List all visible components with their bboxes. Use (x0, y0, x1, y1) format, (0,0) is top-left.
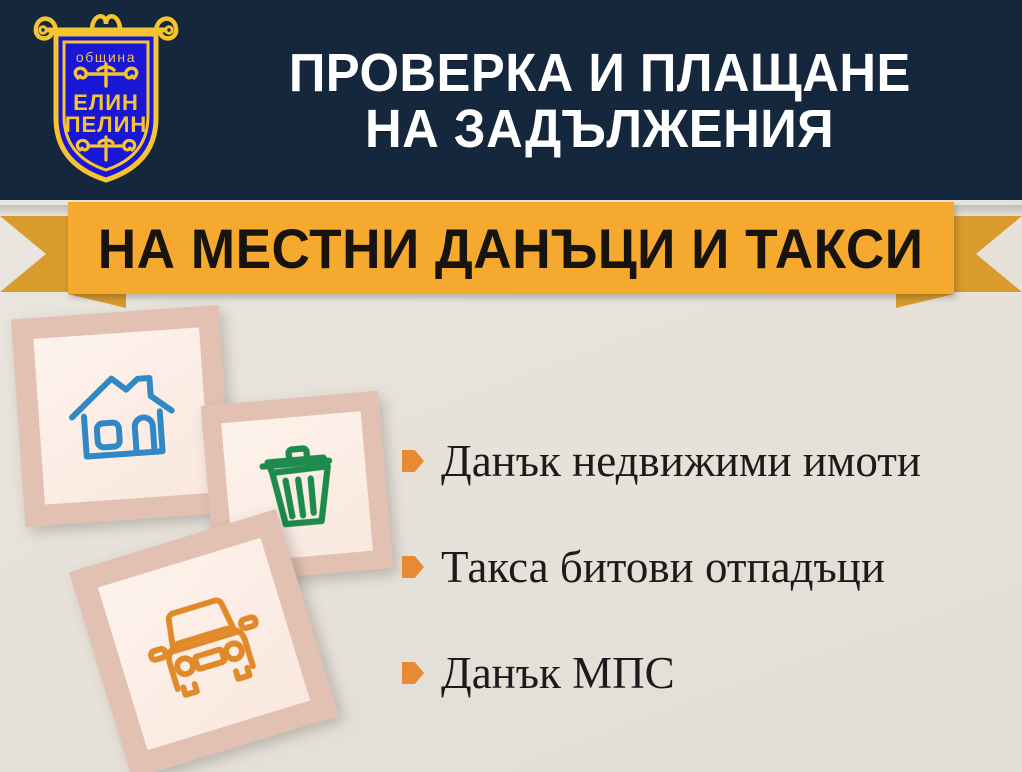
bullet-arrow-icon (402, 450, 424, 472)
header-bar: община ЕЛИН ПЕЛИН (0, 0, 1022, 200)
ribbon-fold-right (896, 294, 954, 308)
stamp-card-property (11, 305, 233, 527)
subtitle-ribbon-label: НА МЕСТНИ ДАНЪЦИ И ТАКСИ (98, 216, 924, 281)
page-title: ПРОВЕРКА И ПЛАЩАНЕ НА ЗАДЪЛЖЕНИЯ (190, 16, 1010, 186)
list-item-label: Такса битови отпадъци (441, 545, 885, 590)
title-line-2: НА ЗАДЪЛЖЕНИЯ (365, 101, 834, 157)
bullet-arrow-icon (402, 662, 424, 684)
list-item-label: Данък МПС (441, 651, 675, 696)
poster-canvas: община ЕЛИН ПЕЛИН (0, 0, 1022, 772)
list-item-label: Данък недвижими имоти (441, 439, 921, 484)
house-icon (58, 352, 186, 480)
car-icon (126, 569, 283, 719)
coat-of-arms-icon: община ЕЛИН ПЕЛИН (26, 6, 186, 186)
list-item[interactable]: Данък МПС (402, 640, 1012, 706)
list-item[interactable]: Данък недвижими имоти (402, 428, 1012, 494)
tax-type-list: Данък недвижими имоти Такса битови отпад… (402, 428, 1012, 706)
ribbon-fold-left (68, 294, 126, 308)
stamp-paper (33, 327, 210, 504)
subtitle-ribbon: НА МЕСТНИ ДАНЪЦИ И ТАКСИ (68, 202, 954, 294)
bullet-arrow-icon (402, 556, 424, 578)
crest-name-line2: ПЕЛИН (65, 112, 148, 137)
list-item[interactable]: Такса битови отпадъци (402, 534, 1012, 600)
title-line-1: ПРОВЕРКА И ПЛАЩАНЕ (289, 45, 911, 101)
stamp-paper (98, 538, 310, 750)
